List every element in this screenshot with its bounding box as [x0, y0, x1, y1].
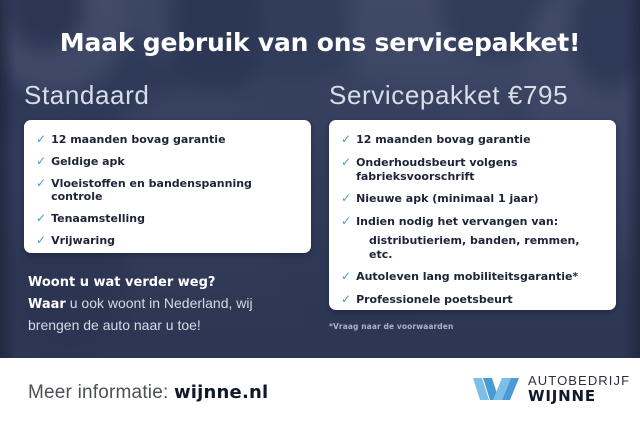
service-feature-list: ✓ 12 maanden bovag garantie ✓ Onderhouds… [329, 120, 616, 307]
list-item: ✓ Indien nodig het vervangen van: [341, 215, 606, 229]
service-column-heading: Servicepakket €795 [329, 80, 568, 111]
service-package-card: ✓ 12 maanden bovag garantie ✓ Onderhouds… [329, 120, 616, 310]
list-item-label: 12 maanden bovag garantie [51, 133, 225, 147]
check-icon: ✓ [341, 133, 351, 147]
promo-line-2-bold: Waar [28, 297, 66, 312]
more-information-prefix: Meer informatie: [28, 382, 174, 403]
logo-top-word: AUTOBEDRIJF [528, 374, 630, 387]
list-item-label: Vrijwaring [51, 234, 115, 248]
promo-line-3: brengen de auto naar u toe! [28, 315, 318, 335]
check-icon: ✓ [36, 234, 46, 248]
list-item: ✓ Vloeistoffen en bandenspanning control… [36, 177, 301, 205]
wijnne-w-logo-icon [473, 376, 519, 402]
list-item: ✓ Nieuwe apk (minimaal 1 jaar) [341, 192, 606, 206]
list-item-label: Autoleven lang mobiliteitsgarantie* [356, 270, 578, 284]
footnote: *Vraag naar de voorwaarden [329, 322, 453, 331]
check-icon: ✓ [341, 156, 351, 170]
check-icon: ✓ [36, 155, 46, 169]
check-icon: ✓ [341, 293, 351, 307]
website-link[interactable]: wijnne.nl [174, 382, 268, 403]
list-item: ✓ 12 maanden bovag garantie [341, 133, 606, 147]
list-item-label: Professionele poetsbeurt [356, 293, 513, 307]
check-icon: ✓ [341, 215, 351, 229]
promo-line-2-rest: u ook woont in Nederland, wij [66, 295, 253, 311]
list-item-label: Indien nodig het vervangen van: [356, 215, 558, 229]
headline: Maak gebruik van ons servicepakket! [0, 28, 640, 57]
logo-bottom-word: WIJNNE [528, 389, 630, 404]
check-icon: ✓ [36, 212, 46, 226]
list-item: ✓ Autoleven lang mobiliteitsgarantie* [341, 270, 606, 284]
list-item: ✓ Geldige apk [36, 155, 301, 169]
logo-wordmark: AUTOBEDRIJF WIJNNE [528, 374, 630, 404]
more-information-text: Meer informatie: wijnne.nl [28, 382, 268, 404]
standard-column-heading: Standaard [24, 80, 149, 111]
check-icon: ✓ [341, 192, 351, 206]
check-icon: ✓ [36, 133, 46, 147]
list-item: ✓ Professionele poetsbeurt [341, 293, 606, 307]
list-item-label: Geldige apk [51, 155, 125, 169]
list-item-continuation: distributieriem, banden, remmen, etc. [369, 234, 606, 262]
list-item: ✓ 12 maanden bovag garantie [36, 133, 301, 147]
delivery-promo-text: Woont u wat verder weg? Waar u ook woont… [28, 274, 318, 335]
check-icon: ✓ [36, 177, 46, 191]
list-item: ✓ Onderhoudsbeurt volgens fabrieksvoorsc… [341, 156, 606, 184]
list-item-label: Nieuwe apk (minimaal 1 jaar) [356, 192, 538, 206]
service-package-advertisement: Maak gebruik van ons servicepakket! Stan… [0, 0, 640, 427]
list-item-label: 12 maanden bovag garantie [356, 133, 530, 147]
check-icon: ✓ [341, 270, 351, 284]
list-item-label: Onderhoudsbeurt volgens fabrieksvoorschr… [356, 156, 606, 184]
standard-feature-list: ✓ 12 maanden bovag garantie ✓ Geldige ap… [24, 120, 311, 248]
promo-line-1: Woont u wat verder weg? [28, 274, 318, 293]
autobedrijf-wijnne-logo: AUTOBEDRIJF WIJNNE [473, 374, 630, 404]
list-item-label: Tenaamstelling [51, 212, 145, 226]
list-item: ✓ Vrijwaring [36, 234, 301, 248]
promo-line-2: Waar u ook woont in Nederland, wij [28, 293, 318, 315]
list-item: ✓ Tenaamstelling [36, 212, 301, 226]
standard-package-card: ✓ 12 maanden bovag garantie ✓ Geldige ap… [24, 120, 311, 253]
list-item-label: Vloeistoffen en bandenspanning controle [51, 177, 301, 205]
